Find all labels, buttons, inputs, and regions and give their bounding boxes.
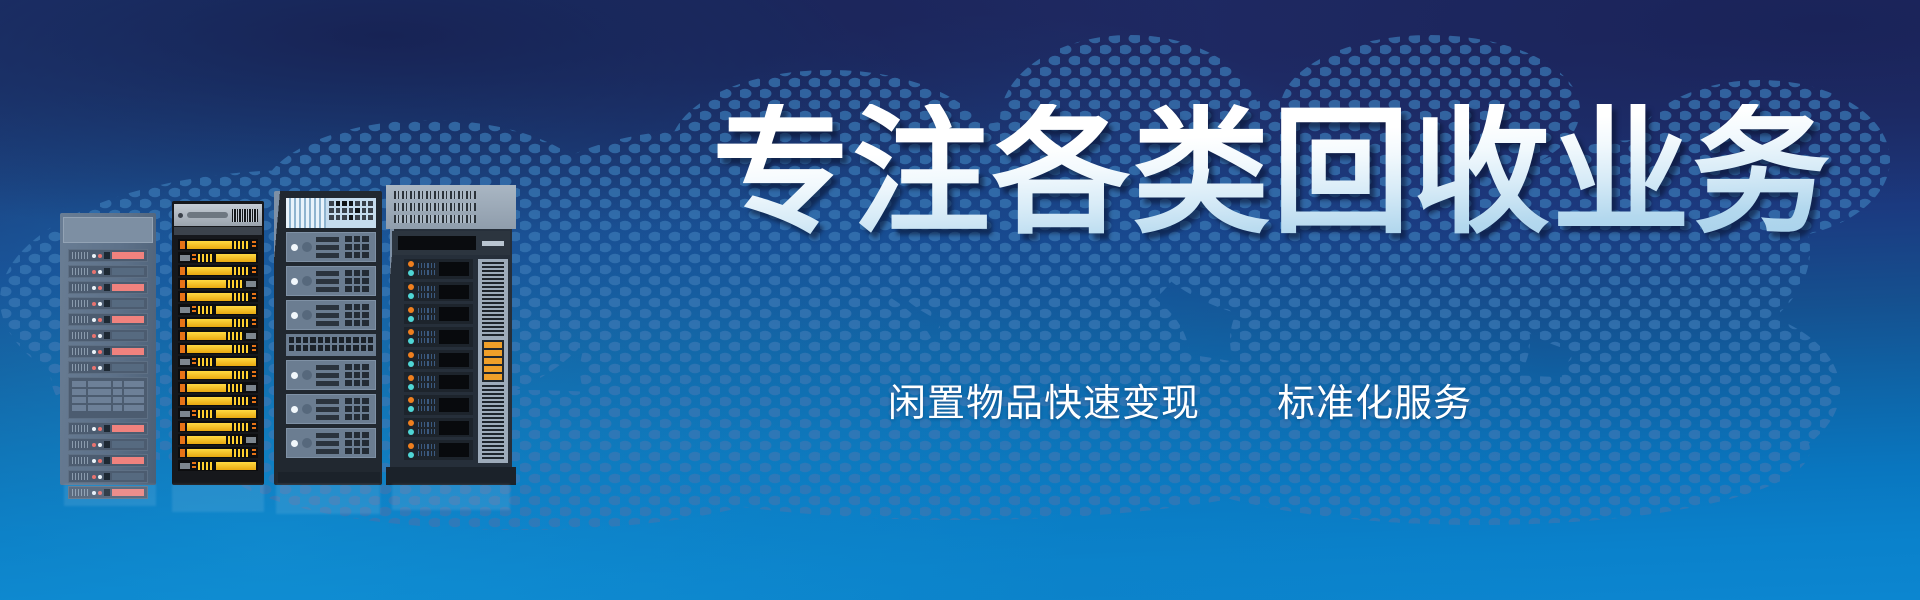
page-title: 专注各类回收业务 [712, 104, 1832, 242]
server-rack-3 [274, 191, 382, 485]
rack-floor-reflections [60, 484, 620, 518]
server-rack-2 [172, 201, 264, 485]
rack4-vent-column [478, 259, 508, 463]
rack2-barcode [232, 209, 258, 222]
rack2-power-knob [178, 213, 183, 218]
rack4-top-barcode-panel [386, 185, 516, 229]
server-rack-1 [60, 213, 156, 485]
rack3-module-stack [286, 232, 376, 471]
rack4-amber-display [482, 340, 504, 382]
rack4-unit-area [404, 259, 508, 463]
promo-banner: 专注各类回收业务 闲置物品快速变现 标准化服务 [0, 0, 1920, 600]
rack3-vent-fins [286, 198, 326, 228]
rack1-patch-panel [68, 377, 148, 419]
rack4-drive-bay [392, 231, 510, 255]
rack4-optical-slot [398, 236, 476, 250]
server-rack-illustration-group [60, 165, 620, 485]
rack3-perforated-panel [286, 334, 376, 356]
rack2-shelf [174, 227, 262, 235]
subtitle-phrase-1: 闲置物品快速变现 [888, 383, 1200, 425]
rack1-top-panel [63, 217, 153, 243]
rack3-base [278, 472, 380, 483]
subtitle-phrase-2: 标准化服务 [1277, 383, 1472, 425]
rack4-unit-column [404, 259, 473, 463]
rack2-top-panel [174, 204, 262, 226]
rack2-slot [187, 212, 228, 218]
rack2-unit-stack [178, 239, 258, 471]
subtitle: 闲置物品快速变现 标准化服务 [888, 372, 1472, 427]
rack4-base [386, 467, 516, 485]
rack1-unit-stack [68, 249, 148, 477]
rack4-eject-tab [482, 241, 504, 246]
server-rack-4 [390, 185, 512, 485]
rack3-top-panel [286, 198, 376, 228]
rack3-indicator-grid [326, 198, 376, 228]
